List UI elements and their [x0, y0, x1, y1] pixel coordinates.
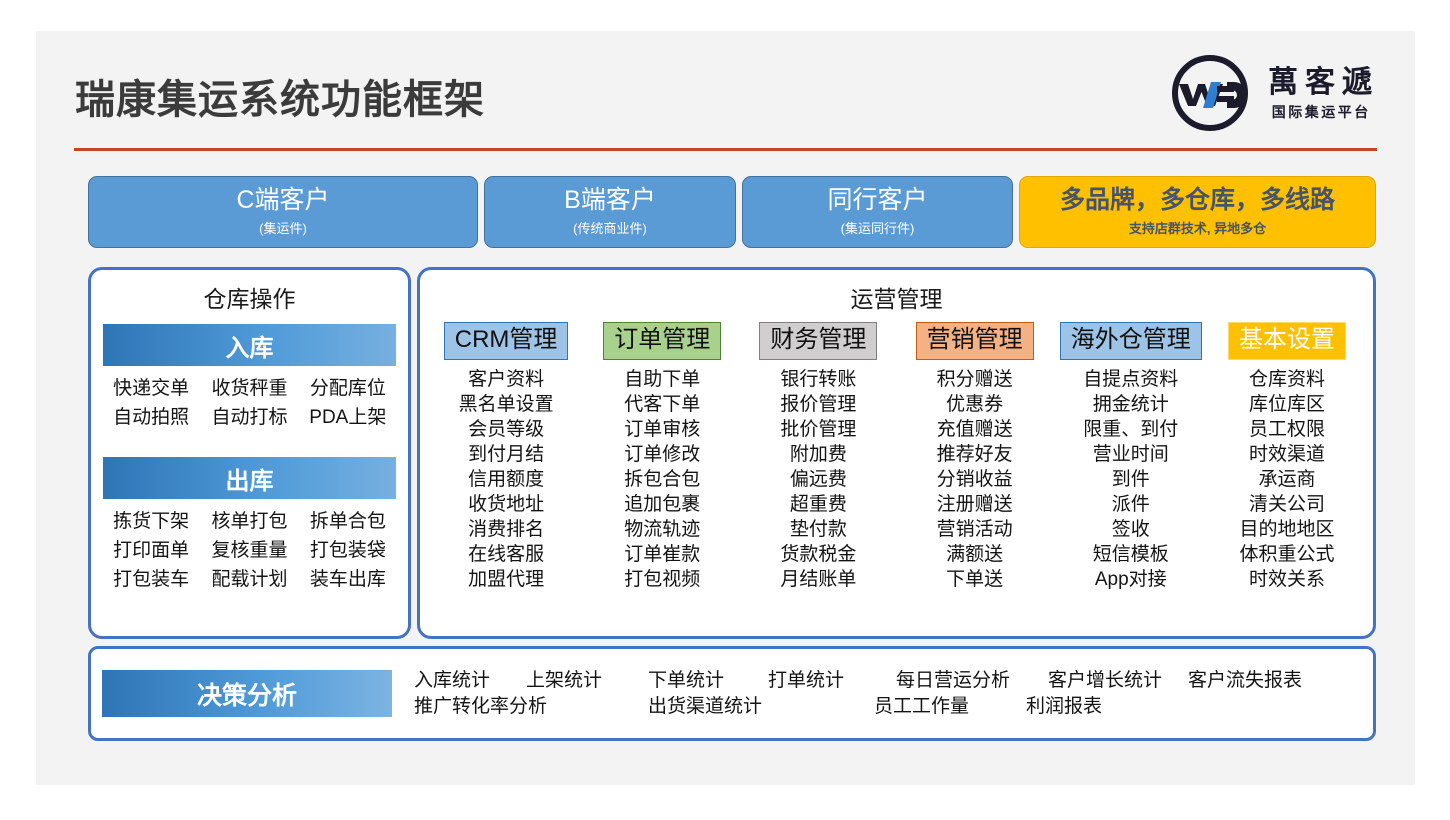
ops-item[interactable]: 自助下单 — [624, 367, 700, 392]
customer-card-b-title: B端客户 — [564, 187, 656, 213]
ops-item[interactable]: 派件 — [1083, 492, 1178, 517]
ops-item[interactable]: 订单审核 — [624, 417, 700, 442]
ops-item[interactable]: 承运商 — [1239, 467, 1334, 492]
ops-item[interactable]: 分销收益 — [937, 467, 1013, 492]
multi-brand-card[interactable]: 多品牌，多仓库，多线路 支持店群技术, 异地多仓 — [1019, 176, 1376, 248]
ops-item[interactable]: 超重费 — [780, 492, 856, 517]
ops-item[interactable]: 月结账单 — [780, 567, 856, 592]
decision-item[interactable]: 出货渠道统计 — [648, 694, 874, 720]
ops-item[interactable]: 银行转账 — [780, 367, 856, 392]
ops-item[interactable]: 订单崔款 — [624, 542, 700, 567]
customer-card-peer-title: 同行客户 — [827, 187, 927, 213]
ops-column-marketing-items: 积分赠送 优惠券 充值赠送 推荐好友 分销收益 注册赠送 营销活动 满额送 下单… — [937, 367, 1013, 593]
decision-item[interactable]: 下单统计 — [648, 668, 768, 694]
customer-type-row: C端客户 (集运件) B端客户 (传统商业件) 同行客户 (集运同行件) 多品牌… — [88, 176, 1376, 248]
ops-item[interactable]: 订单修改 — [624, 442, 700, 467]
ops-item[interactable]: 黑名单设置 — [459, 392, 554, 417]
decision-item[interactable]: 每日营运分析 — [896, 668, 1048, 694]
ops-item[interactable]: 营销活动 — [937, 517, 1013, 542]
decision-item[interactable]: 员工工作量 — [874, 694, 1026, 720]
decision-item[interactable]: 上架统计 — [526, 668, 648, 694]
outbound-item[interactable]: 打印面单 — [103, 535, 199, 562]
inbound-item[interactable]: 快递交单 — [103, 373, 199, 400]
outbound-item[interactable]: 核单打包 — [201, 506, 297, 533]
ops-item[interactable]: 注册赠送 — [937, 492, 1013, 517]
outbound-item[interactable]: 打包装车 — [103, 564, 199, 591]
outbound-item[interactable]: 打包装袋 — [300, 535, 396, 562]
decision-analysis-panel: 决策分析 入库统计 上架统计 下单统计 打单统计 每日营运分析 客户增长统计 客… — [88, 646, 1376, 741]
ops-item[interactable]: 追加包裹 — [624, 492, 700, 517]
ops-item[interactable]: App对接 — [1083, 567, 1178, 592]
customer-card-c-title: C端客户 — [236, 187, 329, 213]
operations-management-panel: 运营管理 CRM管理 客户资料 黑名单设置 会员等级 到付月结 信用额度 收货地… — [417, 267, 1376, 639]
operations-panel-title: 运营管理 — [420, 280, 1373, 314]
ops-column-crm-items: 客户资料 黑名单设置 会员等级 到付月结 信用额度 收货地址 消费排名 在线客服… — [459, 367, 554, 593]
outbound-item[interactable]: 装车出库 — [300, 564, 396, 591]
ops-item[interactable]: 优惠券 — [937, 392, 1013, 417]
ops-item[interactable]: 货款税金 — [780, 542, 856, 567]
customer-card-peer-subtitle: (集运同行件) — [841, 218, 915, 237]
operations-columns: CRM管理 客户资料 黑名单设置 会员等级 到付月结 信用额度 收货地址 消费排… — [428, 322, 1365, 592]
ops-column-order-items: 自助下单 代客下单 订单审核 订单修改 拆包合包 追加包裹 物流轨迹 订单崔款 … — [624, 367, 700, 593]
customer-card-peer[interactable]: 同行客户 (集运同行件) — [742, 176, 1013, 248]
ops-item[interactable]: 垫付款 — [780, 517, 856, 542]
ops-item[interactable]: 签收 — [1083, 517, 1178, 542]
ops-item[interactable]: 偏远费 — [780, 467, 856, 492]
ops-item[interactable]: 打包视频 — [624, 567, 700, 592]
decision-row-1: 入库统计 上架统计 下单统计 打单统计 每日营运分析 客户增长统计 客户流失报表 — [414, 668, 1373, 694]
ops-column-order: 订单管理 自助下单 代客下单 订单审核 订单修改 拆包合包 追加包裹 物流轨迹 … — [584, 322, 740, 592]
ops-item[interactable]: 目的地地区 — [1239, 517, 1334, 542]
customer-card-c-subtitle: (集运件) — [259, 218, 307, 237]
ops-item[interactable]: 批价管理 — [780, 417, 856, 442]
ops-column-crm: CRM管理 客户资料 黑名单设置 会员等级 到付月结 信用额度 收货地址 消费排… — [428, 322, 584, 592]
decision-row-2: 推广转化率分析 出货渠道统计 员工工作量 利润报表 — [414, 694, 1373, 720]
ops-item[interactable]: 下单送 — [937, 567, 1013, 592]
ops-item[interactable]: 报价管理 — [780, 392, 856, 417]
ops-column-finance-header[interactable]: 财务管理 — [759, 322, 877, 360]
ops-column-basic-settings-header[interactable]: 基本设置 — [1228, 322, 1346, 360]
brand-tagline: 国际集运平台 — [1269, 105, 1371, 119]
ops-item[interactable]: 库位库区 — [1239, 392, 1334, 417]
ops-item[interactable]: 短信模板 — [1083, 542, 1178, 567]
decision-analysis-bar[interactable]: 决策分析 — [102, 670, 392, 717]
ops-item[interactable]: 加盟代理 — [459, 567, 554, 592]
ops-item[interactable]: 拥金统计 — [1083, 392, 1178, 417]
ops-item[interactable]: 营业时间 — [1083, 442, 1178, 467]
inbound-item-grid: 快递交单 收货秤重 分配库位 自动拍照 自动打标 PDA上架 — [103, 373, 396, 429]
decision-item[interactable]: 客户增长统计 — [1048, 668, 1188, 694]
customer-card-c[interactable]: C端客户 (集运件) — [88, 176, 478, 248]
decision-item[interactable]: 利润报表 — [1026, 694, 1102, 720]
multi-brand-title: 多品牌，多仓库，多线路 — [1060, 187, 1335, 213]
page-title: 瑞康集运系统功能框架 — [75, 67, 485, 125]
ops-item[interactable]: 代客下单 — [624, 392, 700, 417]
ops-item[interactable]: 推荐好友 — [937, 442, 1013, 467]
decision-item[interactable]: 入库统计 — [414, 668, 526, 694]
outbound-item-grid: 拣货下架 核单打包 拆单合包 打印面单 复核重量 打包装袋 打包装车 配载计划 … — [103, 506, 396, 591]
outbound-item[interactable]: 拣货下架 — [103, 506, 199, 533]
ops-item[interactable]: 附加费 — [780, 442, 856, 467]
ops-item[interactable]: 体积重公式 — [1239, 542, 1334, 567]
brand-name-cn: 萬客遞 — [1261, 68, 1379, 98]
customer-card-b-subtitle: (传统商业件) — [573, 218, 647, 237]
ops-item[interactable]: 满额送 — [937, 542, 1013, 567]
ops-item[interactable]: 客户资料 — [459, 367, 554, 392]
ops-item[interactable]: 物流轨迹 — [624, 517, 700, 542]
inbound-section-bar[interactable]: 入库 — [103, 324, 396, 366]
slide-area: 瑞康集运系统功能框架 萬客遞 国际集运平台 C端客户 (集 — [36, 31, 1415, 785]
inbound-item[interactable]: 收货秤重 — [201, 373, 297, 400]
ops-item[interactable]: 自提点资料 — [1083, 367, 1178, 392]
ops-item[interactable]: 收货地址 — [459, 492, 554, 517]
customer-card-b[interactable]: B端客户 (传统商业件) — [484, 176, 736, 248]
decision-report-list: 入库统计 上架统计 下单统计 打单统计 每日营运分析 客户增长统计 客户流失报表… — [414, 668, 1373, 719]
ops-column-finance-items: 银行转账 报价管理 批价管理 附加费 偏远费 超重费 垫付款 货款税金 月结账单 — [780, 367, 856, 593]
inbound-section-label: 入库 — [226, 328, 274, 363]
decision-item[interactable]: 客户流失报表 — [1188, 668, 1302, 694]
ops-item[interactable]: 在线客服 — [459, 542, 554, 567]
inbound-item[interactable]: PDA上架 — [300, 402, 396, 429]
outbound-item[interactable]: 复核重量 — [201, 535, 297, 562]
ops-column-overseas-header[interactable]: 海外仓管理 — [1060, 322, 1202, 360]
brand-logo: 萬客遞 国际集运平台 — [1171, 53, 1379, 133]
ops-item[interactable]: 会员等级 — [459, 417, 554, 442]
brand-wordmark: 萬客遞 国际集运平台 — [1261, 68, 1379, 119]
outbound-section-label: 出库 — [226, 461, 274, 496]
ops-item[interactable]: 到件 — [1083, 467, 1178, 492]
ops-column-order-header[interactable]: 订单管理 — [603, 322, 721, 360]
outbound-item[interactable]: 配载计划 — [201, 564, 297, 591]
ops-item[interactable]: 限重、到付 — [1083, 417, 1178, 442]
main-panels-row: 仓库操作 入库 快递交单 收货秤重 分配库位 自动拍照 自动打标 PDA上架 出… — [88, 267, 1376, 639]
slide-header: 瑞康集运系统功能框架 萬客遞 国际集运平台 — [36, 31, 1415, 155]
warehouse-operations-panel: 仓库操作 入库 快递交单 收货秤重 分配库位 自动拍照 自动打标 PDA上架 出… — [88, 267, 411, 639]
decision-analysis-label: 决策分析 — [197, 676, 297, 712]
decision-item[interactable]: 打单统计 — [768, 668, 896, 694]
wkd-circle-icon — [1171, 54, 1249, 132]
ops-item[interactable]: 仓库资料 — [1239, 367, 1334, 392]
ops-item[interactable]: 信用额度 — [459, 467, 554, 492]
inbound-item[interactable]: 自动拍照 — [103, 402, 199, 429]
inbound-item[interactable]: 分配库位 — [300, 373, 396, 400]
multi-brand-subtitle: 支持店群技术, 异地多仓 — [1129, 218, 1266, 237]
warehouse-panel-title: 仓库操作 — [91, 280, 408, 314]
ops-item[interactable]: 时效渠道 — [1239, 442, 1334, 467]
ops-item[interactable]: 消费排名 — [459, 517, 554, 542]
ops-item[interactable]: 员工权限 — [1239, 417, 1334, 442]
ops-column-basic-settings: 基本设置 仓库资料 库位库区 员工权限 时效渠道 承运商 清关公司 目的地地区 … — [1209, 322, 1365, 592]
outbound-item[interactable]: 拆单合包 — [300, 506, 396, 533]
outbound-section-bar[interactable]: 出库 — [103, 457, 396, 499]
ops-item[interactable]: 清关公司 — [1239, 492, 1334, 517]
ops-column-finance: 财务管理 银行转账 报价管理 批价管理 附加费 偏远费 超重费 垫付款 货款税金… — [740, 322, 896, 592]
ops-column-overseas: 海外仓管理 自提点资料 拥金统计 限重、到付 营业时间 到件 派件 签收 短信模… — [1053, 322, 1209, 592]
decision-item[interactable]: 推广转化率分析 — [414, 694, 648, 720]
ops-column-crm-header[interactable]: CRM管理 — [444, 322, 569, 360]
ops-column-overseas-items: 自提点资料 拥金统计 限重、到付 营业时间 到件 派件 签收 短信模板 App对… — [1083, 367, 1178, 593]
ops-column-basic-settings-items: 仓库资料 库位库区 员工权限 时效渠道 承运商 清关公司 目的地地区 体积重公式… — [1239, 367, 1334, 593]
ops-item[interactable]: 时效关系 — [1239, 567, 1334, 592]
ops-item[interactable]: 拆包合包 — [624, 467, 700, 492]
ops-column-marketing-header[interactable]: 营销管理 — [916, 322, 1034, 360]
ops-column-marketing: 营销管理 积分赠送 优惠券 充值赠送 推荐好友 分销收益 注册赠送 营销活动 满… — [897, 322, 1053, 592]
ops-item[interactable]: 充值赠送 — [937, 417, 1013, 442]
ops-item[interactable]: 积分赠送 — [937, 367, 1013, 392]
slide-canvas: 瑞康集运系统功能框架 萬客遞 国际集运平台 C端客户 (集 — [0, 0, 1450, 820]
inbound-item[interactable]: 自动打标 — [201, 402, 297, 429]
ops-item[interactable]: 到付月结 — [459, 442, 554, 467]
title-divider — [74, 148, 1377, 151]
